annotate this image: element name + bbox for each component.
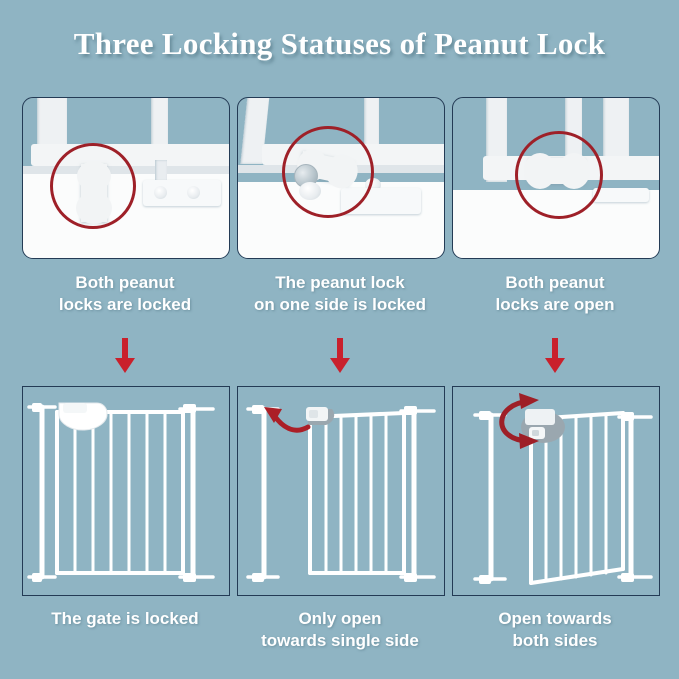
gate-illustration-row — [22, 386, 658, 596]
lock-caption-cell-2: Both peanut locks are open — [452, 272, 658, 317]
lock-photo-panel-both-locked — [22, 97, 230, 259]
latch-knob-b-photo — [187, 186, 200, 199]
gate-caption-cell-0: The gate is locked — [22, 608, 228, 652]
flow-arrow-row — [22, 338, 658, 374]
gate-caption-single-side: Only open towards single side — [237, 608, 443, 652]
gate-caption-cell-1: Only open towards single side — [237, 608, 443, 652]
lock-caption-both-open: Both peanut locks are open — [452, 272, 658, 317]
gate-panel-single-side — [237, 386, 445, 596]
gate-panel-both-sides — [452, 386, 660, 596]
highlight-circle-both-locked — [50, 143, 136, 229]
gate-diagram-both-sides — [453, 387, 659, 595]
gate-bars — [75, 414, 165, 571]
lock-caption-row: Both peanut locks are locked The peanut … — [22, 272, 658, 317]
lock-caption-one-side-locked: The peanut lock on one side is locked — [237, 272, 443, 317]
gate-panel-locked — [22, 386, 230, 596]
gate-bars — [326, 414, 386, 571]
flow-arrow-cell-2 — [452, 338, 658, 374]
highlight-circle-one-side-locked — [282, 126, 374, 218]
curved-arrow-double-head-top — [519, 393, 539, 409]
down-arrow-icon — [544, 338, 566, 374]
down-arrow-icon — [114, 338, 136, 374]
gate-handle — [306, 407, 334, 425]
latch-knob-a-photo — [154, 186, 167, 199]
down-arrow-icon — [329, 338, 351, 374]
gate-caption-both-sides: Open towards both sides — [452, 608, 658, 652]
lock-photo-cell-both-open — [452, 97, 658, 259]
lock-photo-panel-one-side-locked — [237, 97, 445, 259]
gate-caption-cell-2: Open towards both sides — [452, 608, 658, 652]
gate-caption-row: The gate is locked Only open towards sin… — [22, 608, 658, 652]
latch-plate-photo-3 — [593, 188, 649, 202]
lock-photo-cell-one-side-locked — [237, 97, 443, 259]
lock-photo-panel-both-open — [452, 97, 660, 259]
page-title: Three Locking Statuses of Peanut Lock — [0, 26, 679, 62]
lock-caption-cell-1: The peanut lock on one side is locked — [237, 272, 443, 317]
flow-arrow-cell-1 — [237, 338, 443, 374]
gate-cell-locked — [22, 386, 228, 596]
gate-caption-locked: The gate is locked — [22, 608, 228, 630]
gate-diagram-single-side — [238, 387, 444, 595]
lock-caption-both-locked: Both peanut locks are locked — [22, 272, 228, 317]
gate-stem-photo — [155, 160, 167, 182]
gate-cell-both-sides — [452, 386, 658, 596]
flow-arrow-cell-0 — [22, 338, 228, 374]
highlight-circle-both-open — [515, 131, 603, 219]
lock-photo-row — [22, 97, 658, 259]
gate-diagram-locked — [23, 387, 229, 595]
lock-photo-cell-both-locked — [22, 97, 228, 259]
lock-caption-cell-0: Both peanut locks are locked — [22, 272, 228, 317]
gate-cell-single-side — [237, 386, 443, 596]
gate-handle — [59, 403, 107, 430]
curved-arrow-single-icon — [273, 414, 308, 430]
